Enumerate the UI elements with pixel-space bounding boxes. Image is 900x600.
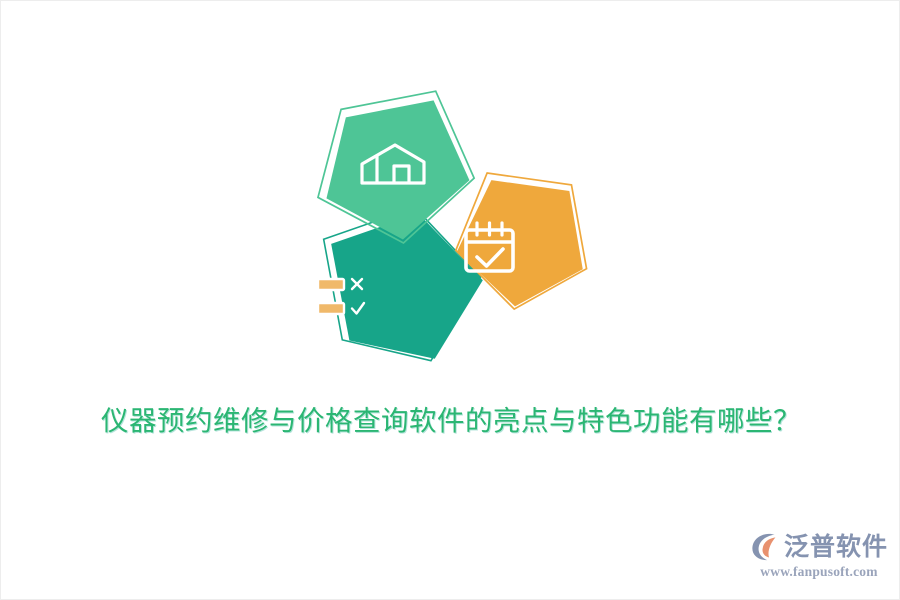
checklist-row1-bar	[318, 279, 344, 290]
logo-swoosh-inner	[763, 537, 776, 557]
fanpu-logo-mark-icon	[749, 531, 780, 562]
watermark-row: 泛普软件	[749, 529, 889, 563]
pentagon-cluster-graphic	[241, 83, 601, 395]
watermark-brand: 泛普软件	[784, 531, 888, 562]
page-title: 仪器预约维修与价格查询软件的亮点与特色功能有哪些？	[1, 400, 900, 442]
screenshot-canvas: 仪器预约维修与价格查询软件的亮点与特色功能有哪些？ 泛普软件 www.fanpu…	[0, 0, 900, 600]
checklist-row2-bar	[318, 303, 344, 314]
watermark-url: www.fanpusoft.com	[749, 564, 889, 580]
watermark-logo: 泛普软件 www.fanpusoft.com	[749, 529, 889, 585]
building-pentagon	[312, 83, 490, 255]
